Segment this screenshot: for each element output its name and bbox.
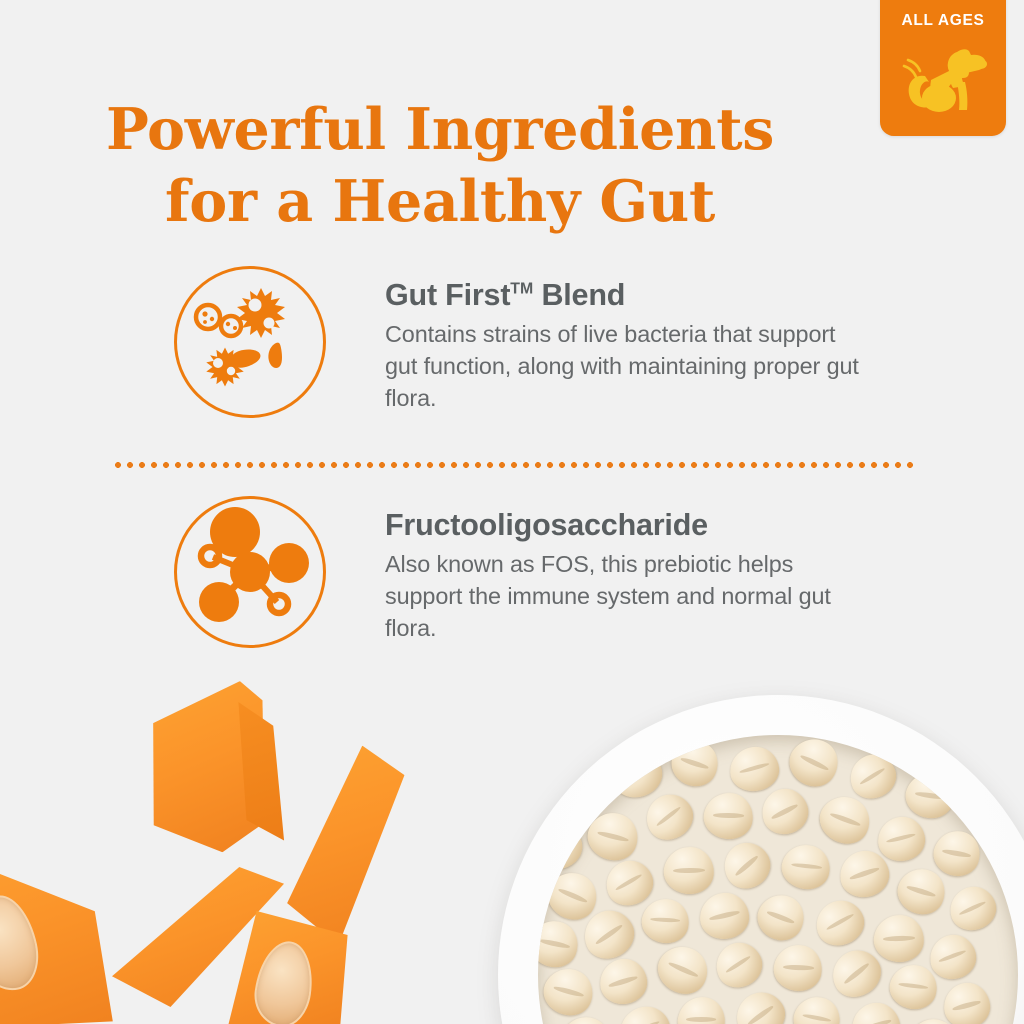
feature-title-main: Fructooligosaccharide bbox=[385, 508, 708, 542]
feature-title: Gut FirstTM Blend bbox=[385, 278, 865, 313]
dog-silhouette-icon bbox=[895, 40, 991, 125]
squash-chunk bbox=[279, 743, 406, 947]
feature-row-gut-first-blend: Gut FirstTM Blend Contains strains of li… bbox=[174, 266, 865, 418]
page-title-line-2: for a Healthy Gut bbox=[0, 166, 880, 238]
bacteria-microbes-icon bbox=[174, 266, 326, 418]
feature-row-fructooligosaccharide: Fructooligosaccharide Also known as FOS,… bbox=[174, 496, 865, 648]
dotted-divider bbox=[112, 462, 913, 468]
trademark-symbol: TM bbox=[510, 281, 533, 298]
feature-body: Also known as FOS, this prebiotic helps … bbox=[385, 549, 865, 644]
ingredient-photography bbox=[0, 679, 1024, 1024]
feature-text-block: Fructooligosaccharide Also known as FOS,… bbox=[385, 496, 865, 645]
cut-pumpkin-squash-pieces bbox=[0, 679, 440, 1024]
badge-label: ALL AGES bbox=[880, 12, 1006, 30]
feature-title-main: Gut First bbox=[385, 278, 510, 312]
all-ages-badge: ALL AGES bbox=[880, 0, 1006, 136]
feature-title-tail: Blend bbox=[533, 278, 625, 312]
page-title-line-1: Powerful Ingredients bbox=[0, 94, 880, 166]
feature-body: Contains strains of live bacteria that s… bbox=[385, 319, 865, 414]
molecule-icon bbox=[174, 496, 326, 648]
infographic-page: ALL AGES bbox=[0, 0, 1024, 1024]
feature-title: Fructooligosaccharide bbox=[385, 508, 865, 543]
white-bowl-of-chickpeas bbox=[498, 695, 1024, 1024]
page-title: Powerful Ingredients for a Healthy Gut bbox=[0, 94, 880, 238]
feature-text-block: Gut FirstTM Blend Contains strains of li… bbox=[385, 266, 865, 415]
